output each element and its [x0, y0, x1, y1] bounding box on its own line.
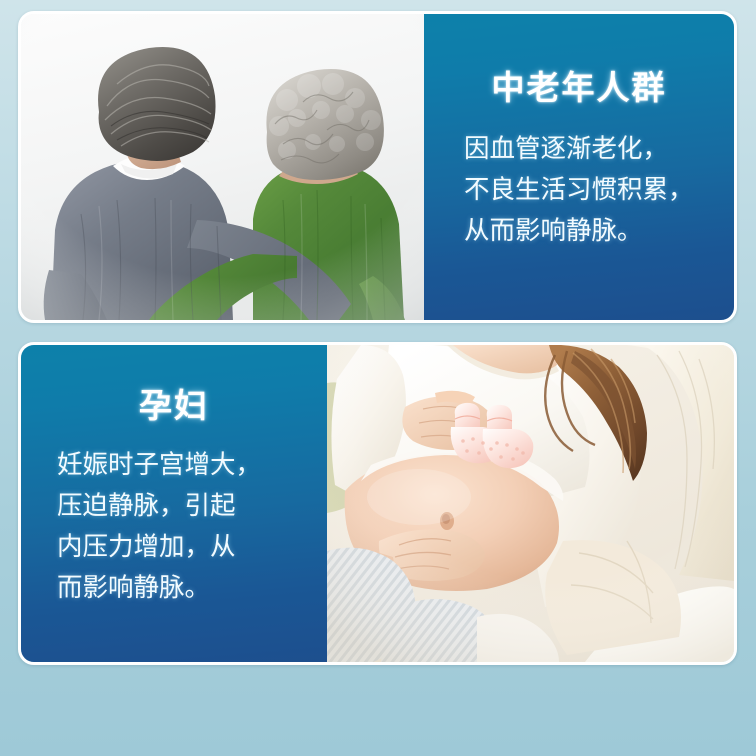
card-body-seniors: 因血管逐渐老化， 不良生活习惯积累， 从而影响静脉。: [464, 129, 734, 252]
poster-canvas: 中老年人群 因血管逐渐老化， 不良生活习惯积累， 从而影响静脉。 孕妇 妊娠时子…: [0, 0, 756, 756]
card-pregnancy: 孕妇 妊娠时子宫增大， 压迫静脉，引起 内压力增加，从 而影响静脉。: [18, 342, 737, 665]
photo-elderly-couple: [21, 14, 424, 320]
card-title-pregnancy: 孕妇: [21, 388, 327, 424]
text-panel-pregnancy: 孕妇 妊娠时子宫增大， 压迫静脉，引起 内压力增加，从 而影响静脉。: [21, 345, 327, 662]
card-title-seniors: 中老年人群: [424, 70, 734, 106]
card-seniors: 中老年人群 因血管逐渐老化， 不良生活习惯积累， 从而影响静脉。: [18, 11, 737, 323]
photo-pregnant-woman: [327, 345, 734, 662]
pregnant-woman-illustration: [327, 345, 734, 662]
elderly-couple-illustration: [21, 14, 424, 320]
card-body-pregnancy: 妊娠时子宫增大， 压迫静脉，引起 内压力增加，从 而影响静脉。: [57, 445, 327, 609]
text-panel-seniors: 中老年人群 因血管逐渐老化， 不良生活习惯积累， 从而影响静脉。: [424, 14, 734, 320]
